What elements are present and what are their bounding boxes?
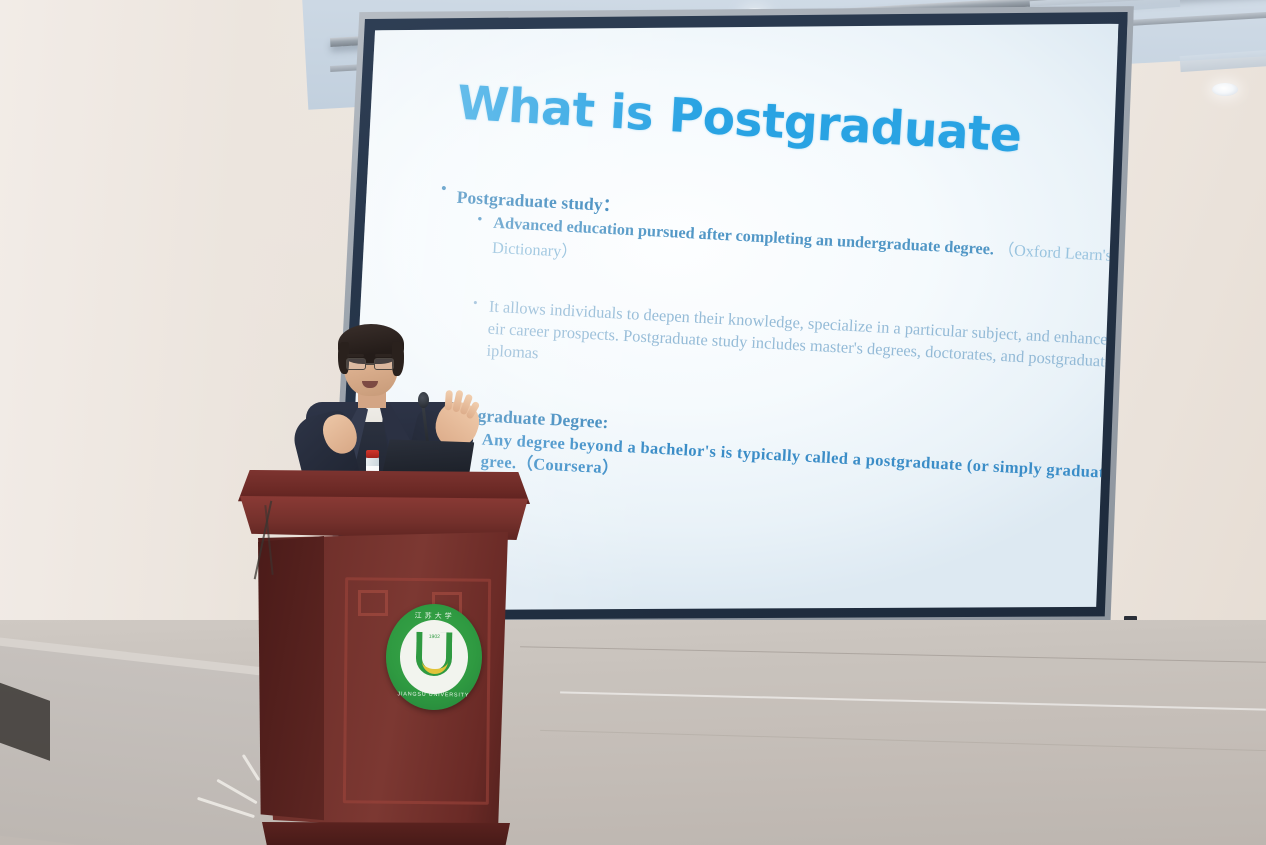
university-emblem: 江苏大学 1902 JIANGSU UNIVERSITY bbox=[385, 603, 483, 711]
speaker-eyebrow-left bbox=[347, 354, 364, 357]
podium-panel-detail bbox=[358, 590, 388, 616]
slide-title: What is Postgraduate bbox=[456, 76, 1023, 164]
microphone-icon bbox=[418, 392, 429, 408]
glasses-bridge bbox=[366, 363, 374, 365]
spotlight-icon bbox=[1212, 83, 1238, 96]
glasses-lens-left bbox=[346, 358, 366, 370]
slide-body: Postgraduate study： Advanced education p… bbox=[422, 183, 1118, 508]
glasses-lens-right bbox=[374, 358, 394, 370]
finger bbox=[445, 390, 453, 410]
speaker-eyebrow-right bbox=[375, 354, 392, 357]
podium-base bbox=[262, 822, 510, 845]
emblem-english-name: JIANGSU UNIVERSITY bbox=[385, 691, 481, 699]
water-bottle-cap bbox=[366, 450, 379, 458]
presentation-photo-scene: What is Postgraduate Postgraduate study：… bbox=[0, 0, 1266, 845]
podium-side-column bbox=[258, 536, 324, 826]
